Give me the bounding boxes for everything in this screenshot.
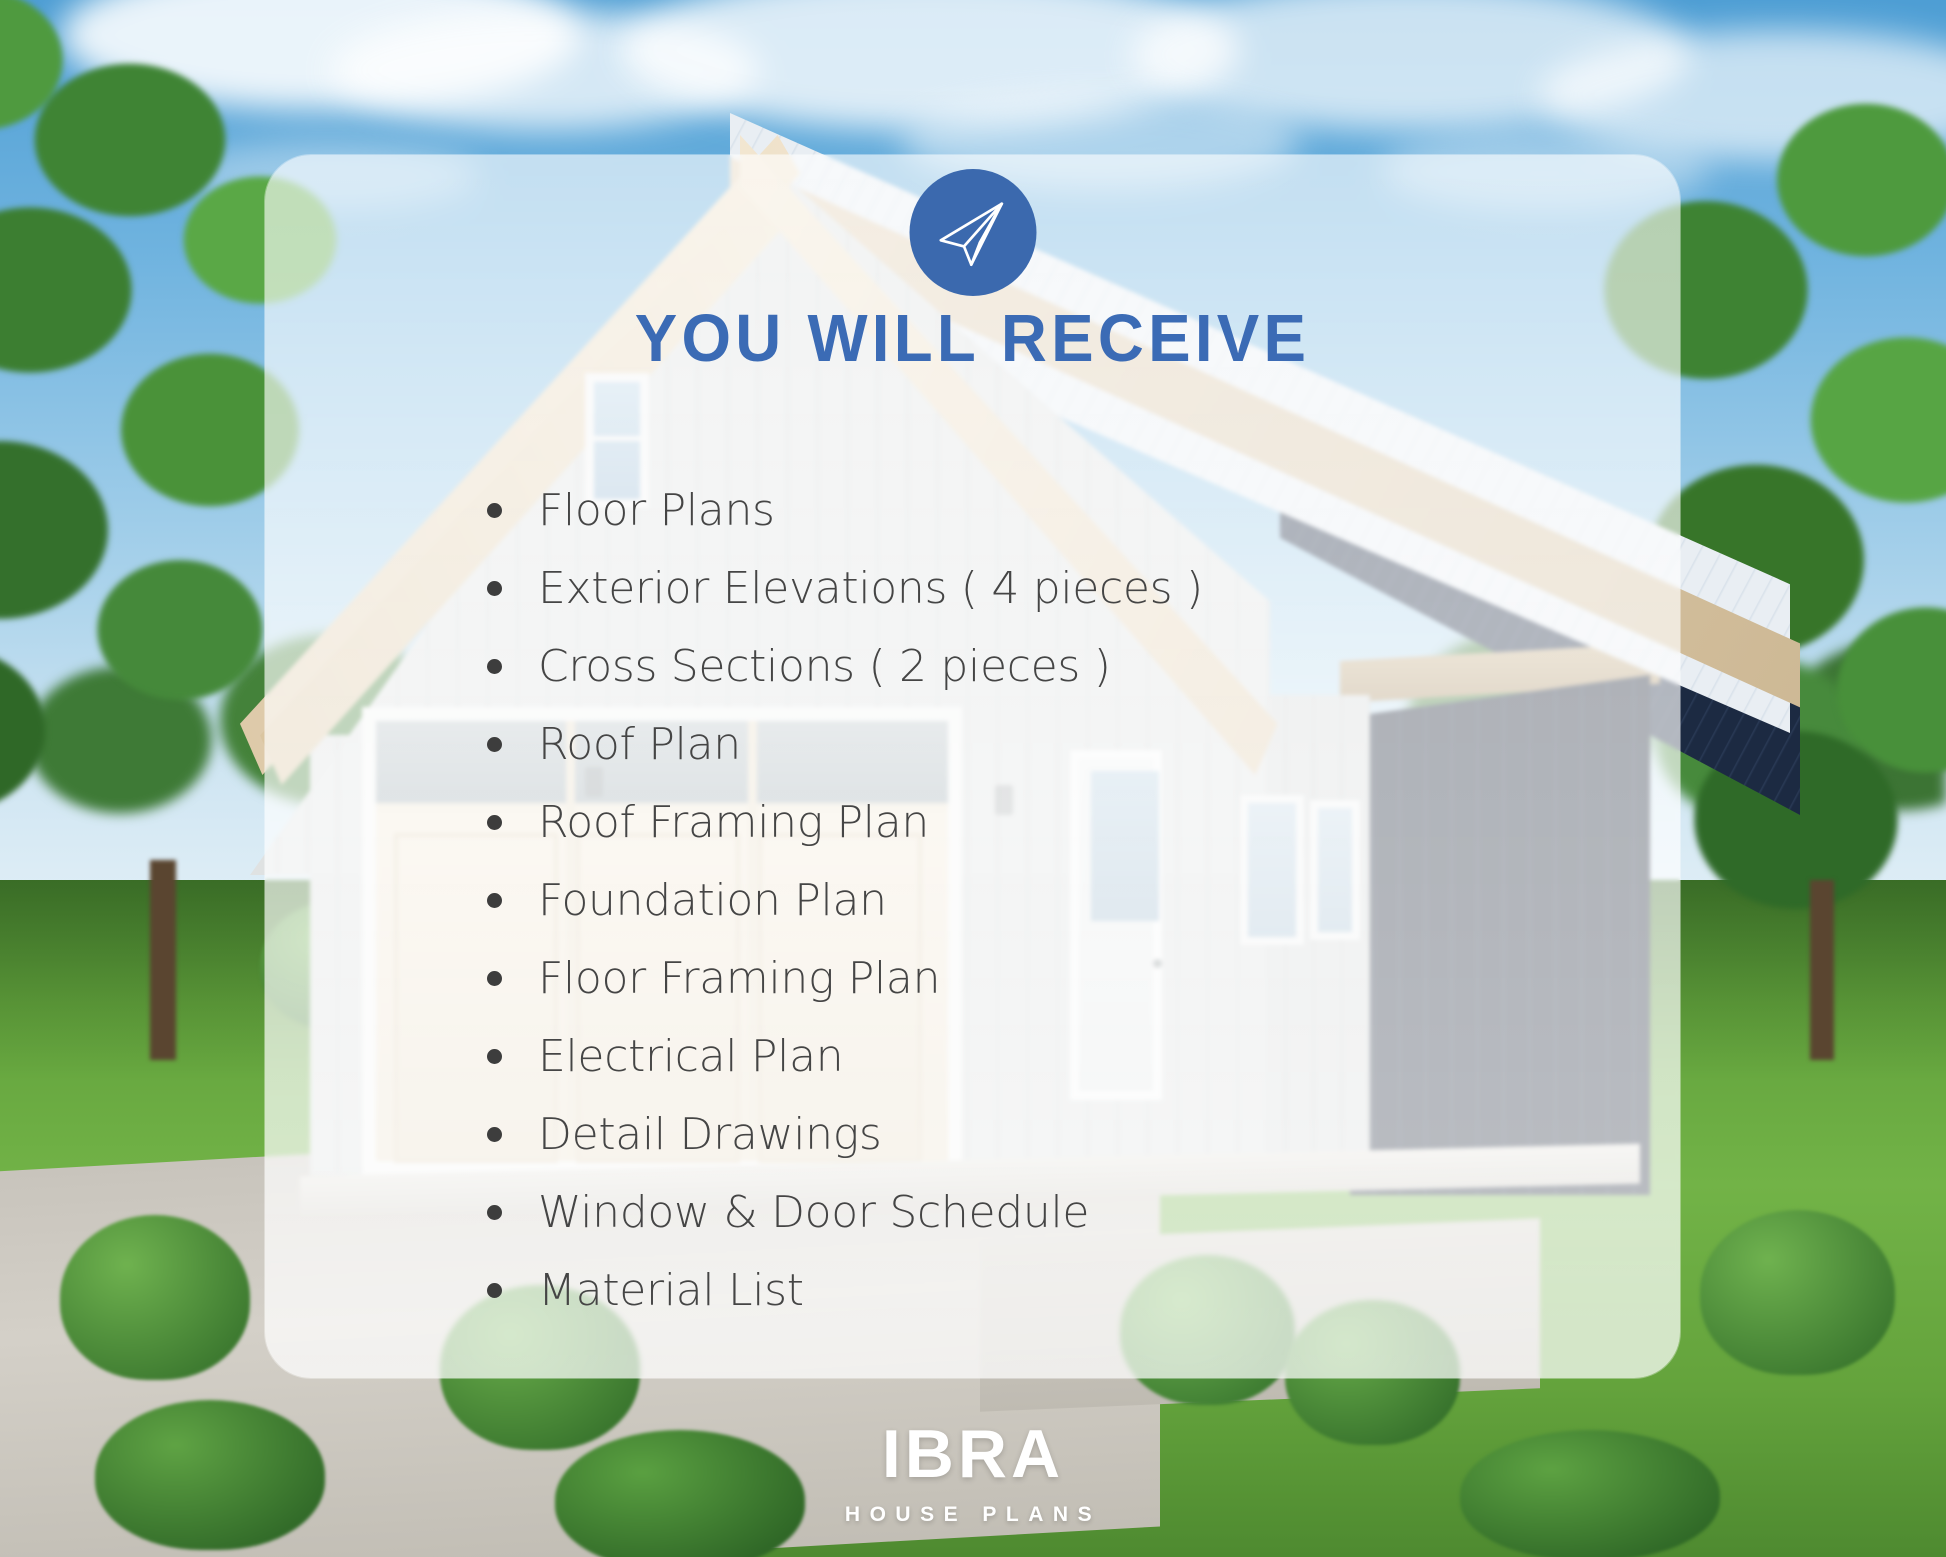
bullet-icon bbox=[487, 1205, 502, 1220]
bush bbox=[60, 1215, 250, 1380]
bullet-icon bbox=[487, 815, 502, 830]
list-item-label: Floor Plans bbox=[538, 485, 775, 536]
list-item: Cross Sections ( 2 pieces ) bbox=[487, 627, 1640, 705]
bullet-icon bbox=[487, 581, 502, 596]
brand-tagline: HOUSE PLANS bbox=[0, 1503, 1946, 1527]
list-item-label: Electrical Plan bbox=[538, 1031, 843, 1082]
list-item-label: Cross Sections ( 2 pieces ) bbox=[538, 641, 1111, 692]
list-item: Electrical Plan bbox=[487, 1017, 1640, 1095]
bullet-icon bbox=[487, 893, 502, 908]
deliverables-list: Floor Plans Exterior Elevations ( 4 piec… bbox=[487, 471, 1640, 1329]
list-item: Floor Framing Plan bbox=[487, 939, 1640, 1017]
list-item-label: Material List bbox=[538, 1265, 804, 1316]
tree-trunk bbox=[150, 860, 176, 1060]
list-item-label: Roof Plan bbox=[538, 719, 741, 770]
list-item-label: Floor Framing Plan bbox=[538, 953, 940, 1004]
list-item: Roof Framing Plan bbox=[487, 783, 1640, 861]
list-item-label: Roof Framing Plan bbox=[538, 797, 929, 848]
list-item: Material List bbox=[487, 1251, 1640, 1329]
list-item: Detail Drawings bbox=[487, 1095, 1640, 1173]
list-item-label: Exterior Elevations ( 4 pieces ) bbox=[538, 563, 1203, 614]
bush bbox=[1700, 1210, 1895, 1375]
tree-trunk bbox=[1810, 880, 1834, 1060]
bullet-icon bbox=[487, 1127, 502, 1142]
list-item: Floor Plans bbox=[487, 471, 1640, 549]
bullet-icon bbox=[487, 659, 502, 674]
list-item: Window & Door Schedule bbox=[487, 1173, 1640, 1251]
content-card: YOU WILL RECEIVE Floor Plans Exterior El… bbox=[265, 155, 1680, 1378]
list-item: Roof Plan bbox=[487, 705, 1640, 783]
bullet-icon bbox=[487, 1049, 502, 1064]
brand-name: IBRA bbox=[0, 1420, 1946, 1489]
list-item: Foundation Plan bbox=[487, 861, 1640, 939]
brand-logo: IBRA HOUSE PLANS bbox=[0, 1420, 1946, 1527]
paper-plane-icon bbox=[909, 169, 1036, 296]
bullet-icon bbox=[487, 1283, 502, 1298]
list-item-label: Foundation Plan bbox=[538, 875, 887, 926]
bullet-icon bbox=[487, 971, 502, 986]
list-item-label: Window & Door Schedule bbox=[538, 1187, 1089, 1238]
page-title: YOU WILL RECEIVE bbox=[300, 300, 1644, 377]
bullet-icon bbox=[487, 503, 502, 518]
bullet-icon bbox=[487, 737, 502, 752]
list-item-label: Detail Drawings bbox=[538, 1109, 881, 1160]
list-item: Exterior Elevations ( 4 pieces ) bbox=[487, 549, 1640, 627]
